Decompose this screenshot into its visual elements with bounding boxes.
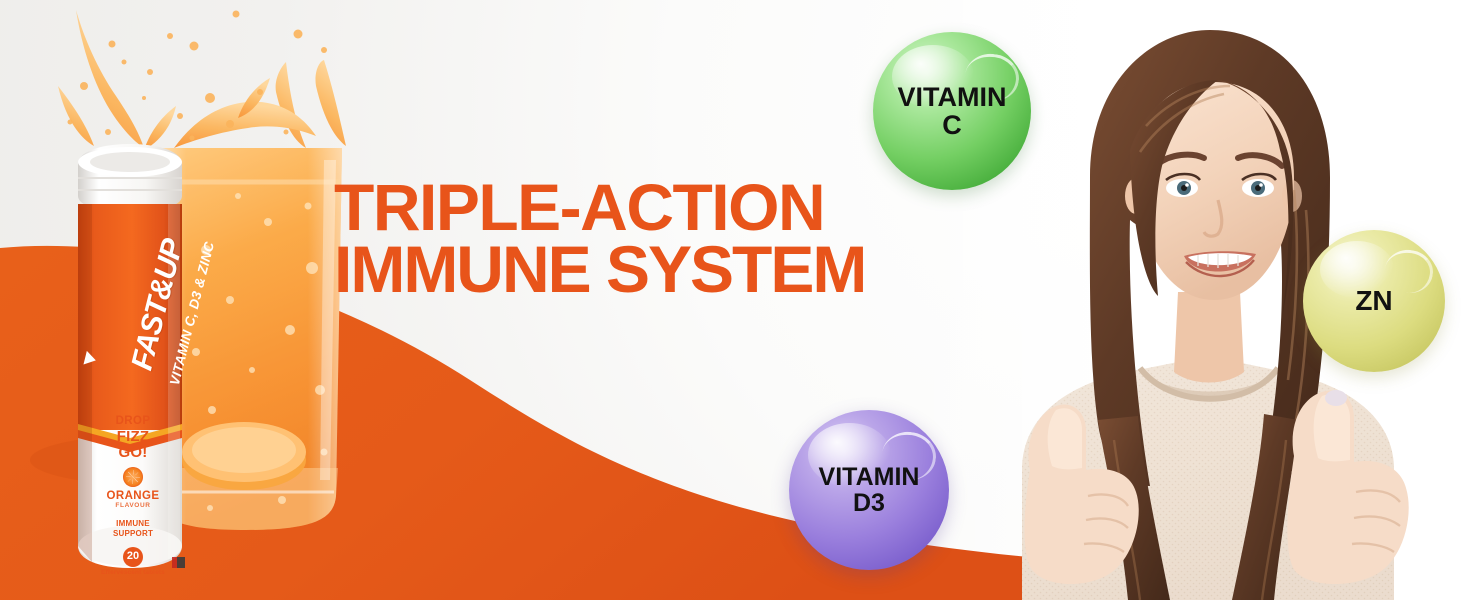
vitamin-d3-label-line2: D3	[853, 489, 885, 517]
vitamin-d3-label: VITAMIN D3	[813, 464, 926, 516]
vitamin-d3-sphere: VITAMIN D3	[789, 410, 949, 570]
vitamin-c-label-line1: VITAMIN	[898, 82, 1007, 112]
vitamin-c-label-line2: C	[942, 110, 962, 140]
zinc-sphere: ZN	[1303, 230, 1445, 372]
vitamin-c-label: VITAMIN C	[892, 83, 1013, 139]
promo-banner: FAST&UP VITAMIN C, D3 & ZINC DROP FIZZ G…	[0, 0, 1464, 600]
zinc-label: ZN	[1349, 286, 1398, 315]
vitamin-d3-label-line1: VITAMIN	[819, 463, 920, 491]
vitamin-c-sphere: VITAMIN C	[873, 32, 1031, 190]
page-title: TRIPLE-ACTION IMMUNE SYSTEM	[334, 176, 964, 300]
product-tube: FAST&UP VITAMIN C, D3 & ZINC DROP FIZZ G…	[72, 138, 188, 576]
headline-line-2: IMMUNE SYSTEM	[334, 238, 964, 300]
